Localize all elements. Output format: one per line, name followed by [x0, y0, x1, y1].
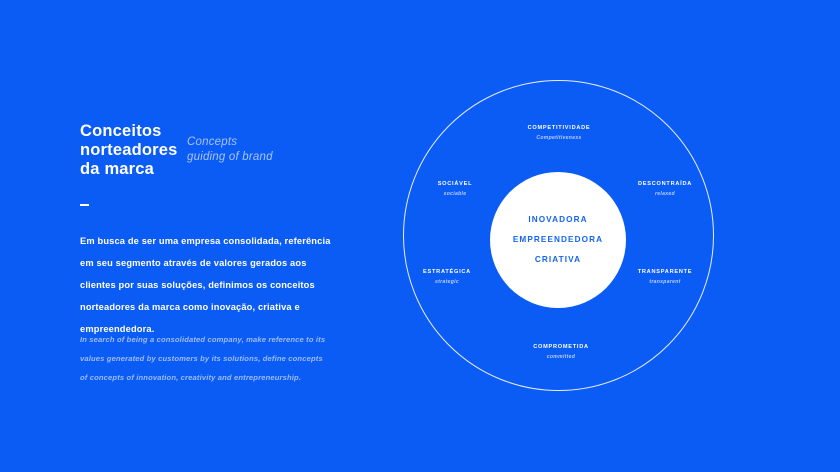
node-competitividade: COMPETITIVIDADE Competitiveness — [494, 124, 624, 143]
node-estrategica: ESTRATÉGICA strategic — [382, 268, 512, 287]
node-sociavel: SOCIÁVEL sociable — [390, 180, 520, 199]
slide-canvas: Conceitos norteadores da marca Concepts … — [0, 0, 840, 472]
node-descontraida: DESCONTRAÍDA relaxed — [600, 180, 730, 199]
core-label-line: CRIATIVA — [535, 250, 581, 270]
node-translation: committed — [496, 352, 626, 362]
divider-dash — [80, 204, 89, 206]
node-translation: strategic — [382, 277, 512, 287]
body-paragraph-english: In search of being a consolidated compan… — [80, 330, 332, 387]
node-term: COMPETITIVIDADE — [494, 124, 624, 133]
node-term: ESTRATÉGICA — [382, 268, 512, 277]
node-translation: Competitiveness — [494, 133, 624, 143]
text-column: Conceitos norteadores da marca Concepts … — [80, 122, 350, 180]
page-title: Conceitos norteadores da marca — [80, 122, 200, 179]
node-term: SOCIÁVEL — [390, 180, 520, 189]
body-paragraph-portuguese: Em busca de ser uma empresa consolidada,… — [80, 230, 332, 340]
concept-diagram: INOVADORA EMPREENDEDORA CRIATIVA COMPETI… — [403, 80, 716, 393]
node-comprometida: COMPROMETIDA committed — [496, 343, 626, 362]
node-translation: sociable — [390, 189, 520, 199]
core-label-line: INOVADORA — [528, 210, 587, 230]
node-term: COMPROMETIDA — [496, 343, 626, 352]
heading-group: Conceitos norteadores da marca Concepts … — [80, 122, 350, 180]
page-subtitle-translation: Concepts guiding of brand — [187, 135, 337, 165]
core-label-line: EMPREENDEDORA — [513, 230, 603, 250]
node-translation: relaxed — [600, 189, 730, 199]
node-term: DESCONTRAÍDA — [600, 180, 730, 189]
node-transparente: TRANSPARENTE transparent — [600, 268, 730, 287]
node-term: TRANSPARENTE — [600, 268, 730, 277]
node-translation: transparent — [600, 277, 730, 287]
